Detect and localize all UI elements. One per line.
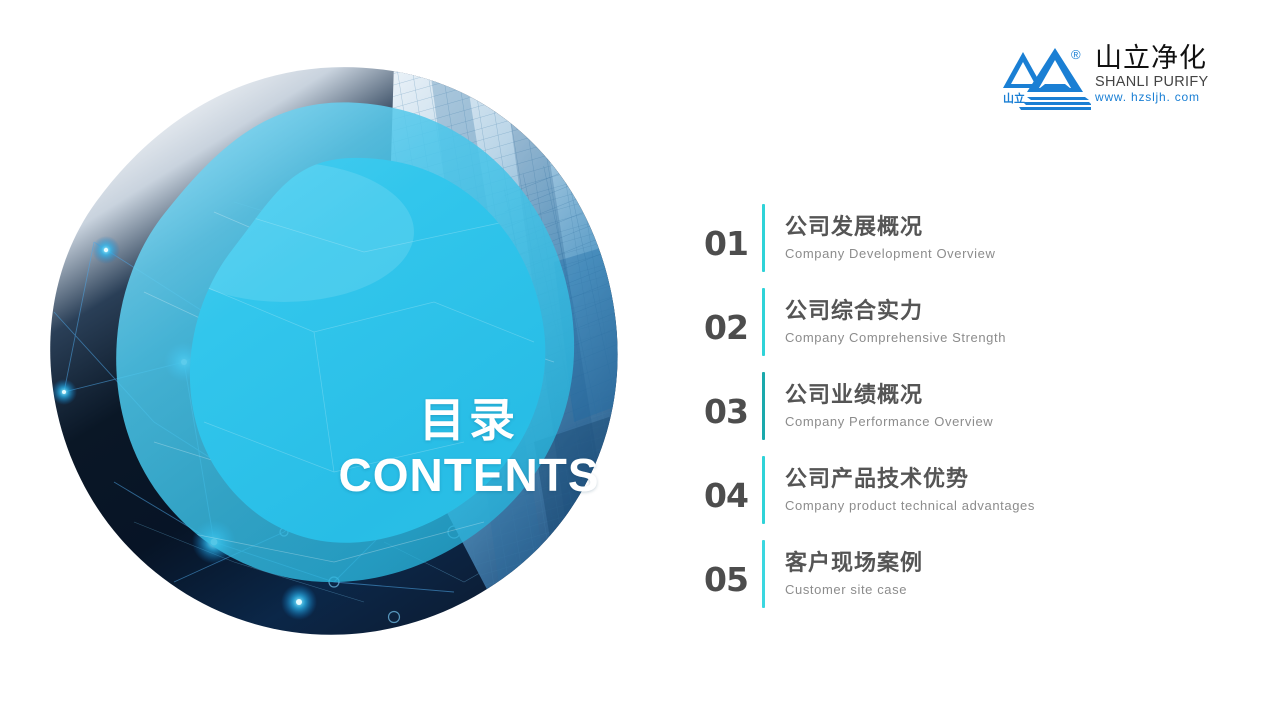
agenda-text-group: 客户现场案例 Customer site case	[785, 547, 1224, 601]
agenda-list: 01 公司发展概况 Company Development Overview 0…	[704, 196, 1224, 616]
agenda-item-05[interactable]: 05 客户现场案例 Customer site case	[704, 532, 1224, 616]
agenda-item-02[interactable]: 02 公司综合实力 Company Comprehensive Strength	[704, 280, 1224, 364]
agenda-title-en: Company Comprehensive Strength	[785, 327, 1224, 349]
agenda-text-group: 公司业绩概况 Company Performance Overview	[785, 379, 1224, 433]
agenda-title-en: Company Development Overview	[785, 243, 1224, 265]
agenda-number: 05	[704, 551, 762, 597]
agenda-divider	[762, 204, 765, 272]
agenda-number: 03	[704, 383, 762, 429]
hero-graphic: 目录 CONTENTS	[34, 62, 654, 642]
agenda-title-cn: 客户现场案例	[785, 549, 1224, 579]
agenda-item-03[interactable]: 03 公司业绩概况 Company Performance Overview	[704, 364, 1224, 448]
logo-name-cn: 山立净化	[1095, 44, 1235, 74]
agenda-text-group: 公司产品技术优势 Company product technical advan…	[785, 463, 1224, 517]
agenda-title-en: Customer site case	[785, 579, 1224, 601]
agenda-item-04[interactable]: 04 公司产品技术优势 Company product technical ad…	[704, 448, 1224, 532]
logo-wordmark: 山立净化 SHANLI PURIFY www. hzsljh. com	[1095, 44, 1235, 105]
agenda-divider	[762, 456, 765, 524]
agenda-title-cn: 公司发展概况	[785, 213, 1224, 243]
logo-mark-caption: 山立	[1003, 90, 1025, 106]
agenda-title-en: Company Performance Overview	[785, 411, 1224, 433]
company-logo[interactable]: ® 山立 山立净化 SHANLI PURIFY www. hzsljh. com	[1003, 44, 1233, 118]
agenda-title-cn: 公司综合实力	[785, 297, 1224, 327]
slide-canvas: ® 山立 山立净化 SHANLI PURIFY www. hzsljh. com	[0, 0, 1280, 720]
agenda-number: 02	[704, 299, 762, 345]
registered-trademark-icon: ®	[1071, 48, 1081, 61]
agenda-number: 04	[704, 467, 762, 513]
agenda-divider	[762, 372, 765, 440]
agenda-divider	[762, 540, 765, 608]
agenda-divider	[762, 288, 765, 356]
agenda-item-01[interactable]: 01 公司发展概况 Company Development Overview	[704, 196, 1224, 280]
agenda-text-group: 公司综合实力 Company Comprehensive Strength	[785, 295, 1224, 349]
agenda-number: 01	[704, 215, 762, 261]
agenda-title-en: Company product technical advantages	[785, 495, 1224, 517]
logo-name-en: SHANLI PURIFY	[1095, 74, 1235, 90]
agenda-text-group: 公司发展概况 Company Development Overview	[785, 211, 1224, 265]
logo-website-url: www. hzsljh. com	[1095, 90, 1235, 105]
agenda-title-cn: 公司业绩概况	[785, 381, 1224, 411]
agenda-title-cn: 公司产品技术优势	[785, 465, 1224, 495]
